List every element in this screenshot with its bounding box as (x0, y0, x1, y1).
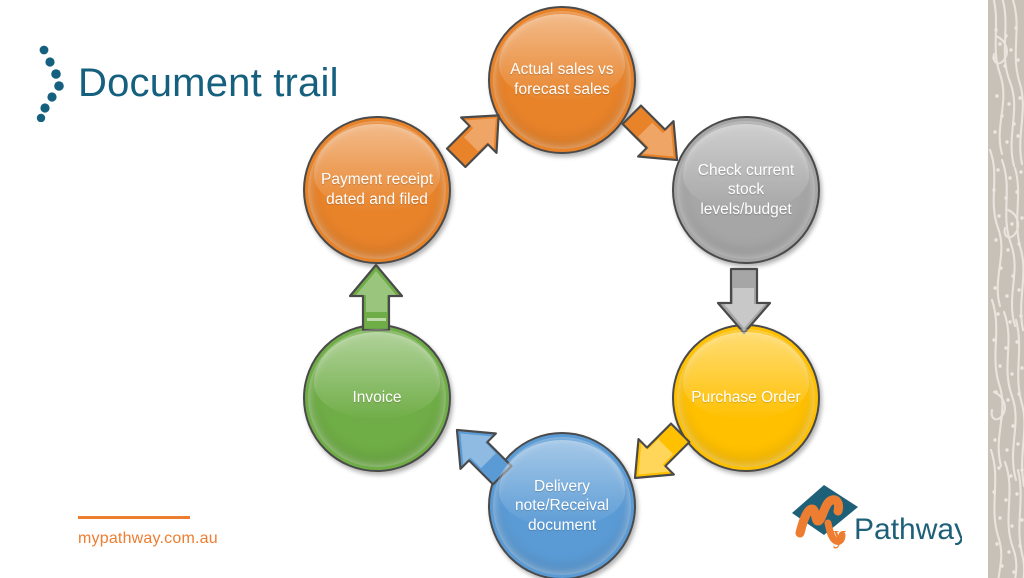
cycle-node-label: Purchase Order (683, 388, 808, 408)
cycle-node-invoice[interactable]: Invoice (303, 324, 451, 472)
cycle-node-label: Payment receipt dated and filed (305, 170, 449, 209)
slide-header: Document trail (34, 44, 339, 122)
cycle-node-label: Actual sales vs forecast sales (490, 60, 634, 99)
footer-rule (78, 516, 190, 519)
cycle-node-check-stock[interactable]: Check current stock levels/budget (672, 116, 820, 264)
svg-text:y: y (833, 520, 846, 549)
arrow-stock-to-purchase-icon (706, 264, 782, 338)
footer-website-url[interactable]: mypathway.com.au (78, 530, 218, 548)
aboriginal-pattern-strip (988, 0, 1024, 578)
slide-canvas: Document trail Actual sales vs forecast … (0, 0, 1024, 578)
cycle-node-label: Check current stock levels/budget (674, 161, 818, 220)
arrow-invoice-to-payment-icon (338, 260, 414, 336)
cycle-node-payment-receipt[interactable]: Payment receipt dated and filed (303, 116, 451, 264)
page-title: Document trail (78, 63, 339, 103)
svg-text:Pathway: Pathway (854, 513, 962, 546)
cycle-node-actual-sales[interactable]: Actual sales vs forecast sales (488, 6, 636, 154)
cycle-node-label: Invoice (344, 388, 409, 408)
dot-chevron-logo-icon (34, 44, 68, 122)
cycle-node-label: Delivery note/Receival document (490, 477, 634, 536)
arrow-payment-to-sales-icon (443, 100, 509, 176)
my-pathway-logo: y Pathway (786, 483, 962, 549)
